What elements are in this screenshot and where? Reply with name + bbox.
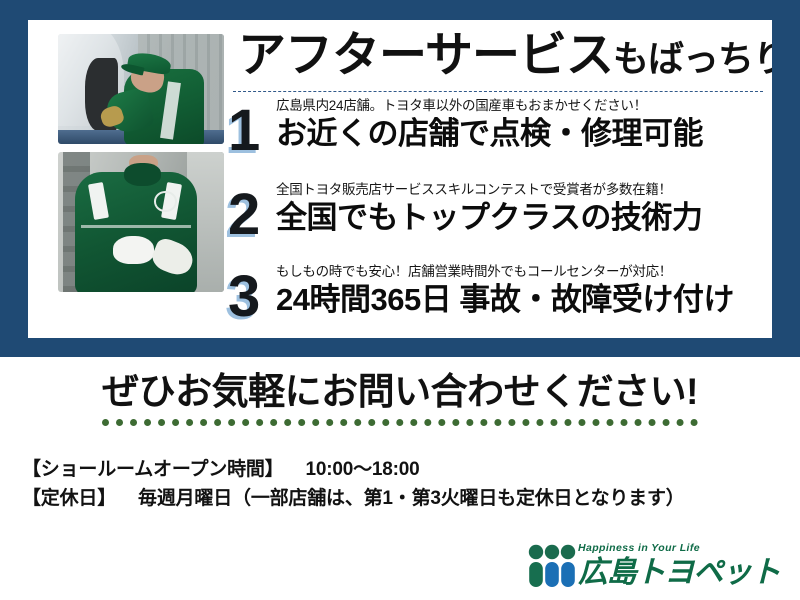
cta-text: ぜひお気軽にお問い合わせください! — [102, 372, 698, 426]
logo-tagline: Happiness in Your Life — [578, 543, 790, 554]
navy-banner-panel: アフターサービスもばっちり！ 1 広島県内24店舗。トヨタ車以外の国産車もおまか… — [0, 0, 800, 357]
logo-company-name: 広島トヨペット — [578, 558, 790, 588]
feature-row-3: 3 もしもの時でも安心！店舗営業時間外でもコールセンターが対応！ 24時間365… — [228, 264, 768, 338]
feature-subtitle-1: 広島県内24店舗。トヨタ車以外の国産車もおまかせください！ — [276, 98, 768, 115]
three-people-icon — [528, 544, 576, 588]
feature-title-2: 全国でもトップクラスの技術力 — [276, 200, 768, 236]
showroom-hours-label: 【ショールームオープン時間】 — [22, 459, 284, 480]
cta-section: ぜひお気軽にお問い合わせください! — [0, 372, 800, 426]
feature-row-2: 2 全国トヨタ販売店サービススキルコンテストで受賞者が多数在籍！ 全国でもトップ… — [228, 182, 768, 266]
closed-days-line: 【定休日】毎週月曜日（一部店舗は、第1・第3火曜日も定休日となります） — [22, 484, 782, 513]
feature-subtitle-2: 全国トヨタ販売店サービススキルコンテストで受賞者が多数在籍！ — [276, 182, 768, 199]
white-content-card: アフターサービスもばっちり！ 1 広島県内24店舗。トヨタ車以外の国産車もおまか… — [28, 20, 772, 338]
feature-number-1: 1 — [228, 102, 274, 160]
headline-main-text: アフターサービス — [238, 29, 613, 82]
feature-row-1: 1 広島県内24店舗。トヨタ車以外の国産車もおまかせください！ お近くの店舗で点… — [228, 98, 768, 182]
advertisement-page: アフターサービスもばっちり！ 1 広島県内24店舗。トヨタ車以外の国産車もおまか… — [0, 0, 800, 600]
company-logo: Happiness in Your Life 広島トヨペット — [528, 540, 790, 594]
feature-subtitle-3: もしもの時でも安心！店舗営業時間外でもコールセンターが対応！ — [276, 264, 768, 281]
headline-suffix-text: もばっちり！ — [613, 38, 772, 79]
banner-headline: アフターサービスもばっちり！ — [238, 32, 758, 80]
feature-number-3: 3 — [228, 268, 274, 326]
mechanic-inspecting-car-photo — [58, 34, 224, 144]
feature-number-2: 2 — [228, 186, 274, 244]
showroom-hours-line: 【ショールームオープン時間】10:00〜18:00 — [22, 455, 782, 484]
closed-days-value: 毎週月曜日（一部店舗は、第1・第3火曜日も定休日となります） — [138, 488, 685, 509]
mechanic-with-white-gloves-photo — [58, 152, 224, 292]
closed-days-label: 【定休日】 — [22, 488, 116, 509]
business-hours-block: 【ショールームオープン時間】10:00〜18:00 【定休日】毎週月曜日（一部店… — [22, 455, 782, 514]
feature-title-1: お近くの店舗で点検・修理可能 — [276, 116, 768, 152]
feature-title-3: 24時間365日 事故・故障受け付け — [276, 282, 768, 318]
headline-divider — [233, 91, 763, 92]
showroom-hours-value: 10:00〜18:00 — [306, 459, 420, 480]
